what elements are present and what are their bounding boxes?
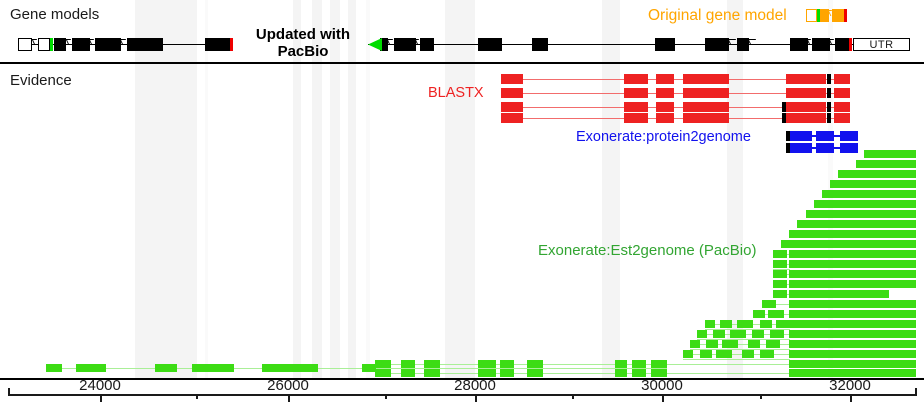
- blastx-hsp-block: [786, 113, 826, 123]
- est2genome-exon-block: [789, 360, 916, 368]
- start-codon-marker: [50, 38, 53, 51]
- protein2genome-label: Exonerate:protein2genome: [576, 129, 751, 145]
- blastx-hsp-block: [683, 74, 729, 84]
- est2genome-exon-block: [155, 364, 177, 372]
- utr-exon: [38, 38, 50, 51]
- blastx-hsp-block: [501, 88, 523, 98]
- est2genome-exon-block: [690, 340, 700, 348]
- est2genome-exon-block: [401, 360, 415, 368]
- est2genome-exon-block: [683, 350, 693, 358]
- blastx-hsp-block: [624, 74, 648, 84]
- est2genome-exon-block: [706, 340, 718, 348]
- protein2genome-exon-block: [840, 131, 858, 141]
- axis-tick: [196, 394, 198, 399]
- updated-with-pacbio-line2: PacBio: [248, 43, 358, 60]
- est2genome-exon-block: [742, 350, 754, 358]
- coordinate-axis: 2400026000280003000032000: [0, 380, 924, 406]
- est2genome-exon-block: [770, 330, 784, 338]
- blastx-hsp-block: [501, 102, 523, 112]
- protein2genome-exon-block: [790, 131, 812, 141]
- axis-tick-label: 32000: [829, 377, 871, 394]
- est2genome-label: Exonerate:Est2genome (PacBio): [538, 242, 756, 259]
- est2genome-exon-block: [776, 320, 790, 328]
- est2genome-exon-block: [838, 170, 916, 178]
- est2genome-exon-block: [720, 320, 732, 328]
- blastx-hsp-block: [683, 113, 729, 123]
- legend-utr-box: [806, 9, 817, 22]
- utr-box-label: UTR: [869, 39, 893, 51]
- est2genome-exon-block: [632, 369, 646, 377]
- est2genome-exon-block: [773, 250, 787, 258]
- protein2genome-exon-block: [816, 143, 834, 153]
- utr-box: UTR: [853, 38, 910, 51]
- est2genome-exon-block: [822, 190, 916, 198]
- axis-tick: [850, 394, 852, 402]
- est2genome-exon-block: [762, 300, 776, 308]
- cds-exon: [127, 38, 163, 51]
- est2genome-exon-block: [478, 369, 496, 377]
- est2genome-exon-block: [737, 320, 753, 328]
- strand-chevron-icon: [748, 39, 759, 45]
- shaded-band: [602, 0, 620, 380]
- axis-tick-label: 26000: [267, 377, 309, 394]
- axis-tick: [760, 394, 762, 399]
- est2genome-exon-block: [789, 270, 916, 278]
- est2genome-exon-block: [76, 364, 106, 372]
- protein2genome-exon-block: [816, 131, 834, 141]
- blastx-hsp-block: [656, 74, 674, 84]
- est2genome-exon-block: [730, 330, 746, 338]
- cds-exon: [835, 38, 849, 51]
- est2genome-exon-block: [773, 280, 787, 288]
- blastx-hsp-block: [786, 88, 826, 98]
- cds-exon: [95, 38, 121, 51]
- genome-browser-canvas: Gene models Evidence Updated with PacBio…: [0, 0, 924, 406]
- est2genome-exon-block: [362, 364, 376, 372]
- est2genome-exon-block: [262, 364, 318, 372]
- axis-tick: [288, 394, 290, 402]
- est2genome-exon-block: [527, 369, 543, 377]
- est2genome-exon-block: [806, 210, 916, 218]
- est2genome-exon-block: [478, 360, 496, 368]
- cds-exon: [72, 38, 90, 51]
- est2genome-exon-block: [46, 364, 62, 372]
- est2genome-exon-block: [760, 350, 774, 358]
- est2genome-exon-block: [789, 320, 916, 328]
- blastx-label: BLASTX: [428, 85, 484, 101]
- est2genome-exon-block: [789, 350, 916, 358]
- est2genome-exon-block: [864, 150, 916, 158]
- blastx-frame-marker: [827, 74, 831, 84]
- blastx-hsp-block: [683, 88, 729, 98]
- cds-exon: [54, 38, 66, 51]
- blastx-frame-marker: [827, 88, 831, 98]
- est2genome-exon-block: [700, 350, 712, 358]
- est2genome-exon-block: [651, 360, 667, 368]
- panel-title-evidence: Evidence: [10, 72, 72, 89]
- est2genome-exon-block: [697, 330, 707, 338]
- est2genome-exon-block: [856, 160, 916, 168]
- axis-tick: [662, 394, 664, 402]
- est2genome-exon-block: [375, 360, 391, 368]
- axis-tick: [385, 394, 387, 399]
- utr-exon: [18, 38, 32, 51]
- est2genome-exon-block: [789, 260, 916, 268]
- est2genome-exon-block: [781, 240, 916, 248]
- blastx-frame-marker: [827, 102, 831, 112]
- axis-tick-label: 24000: [79, 377, 121, 394]
- cds-exon: [532, 38, 548, 51]
- est2genome-exon-block: [748, 340, 760, 348]
- blastx-hsp-block: [624, 102, 648, 112]
- blastx-hsp-block: [624, 88, 648, 98]
- shaded-band: [205, 0, 208, 380]
- cds-exon: [420, 38, 434, 51]
- protein2genome-exon-block: [840, 143, 858, 153]
- stop-codon-marker: [230, 38, 233, 51]
- cds-exon: [655, 38, 675, 51]
- updated-with-pacbio-line1: Updated with: [248, 26, 358, 43]
- blastx-hsp-block: [834, 74, 850, 84]
- blastx-hsp-block: [656, 113, 674, 123]
- est2genome-exon-block: [500, 369, 514, 377]
- est2genome-exon-block: [615, 369, 627, 377]
- est2genome-exon-block: [705, 320, 715, 328]
- axis-tick: [100, 394, 102, 402]
- est2genome-exon-block: [789, 330, 916, 338]
- est2genome-exon-block: [789, 280, 916, 288]
- blastx-hsp-block: [656, 88, 674, 98]
- legend-stop-marker: [844, 9, 847, 22]
- est2genome-exon-block: [424, 369, 440, 377]
- est2genome-exon-block: [789, 340, 916, 348]
- cds-exon: [812, 38, 830, 51]
- est2genome-exon-block: [768, 310, 784, 318]
- est2genome-exon-block: [632, 360, 646, 368]
- blastx-hsp-block: [834, 102, 850, 112]
- blastx-hsp-block: [501, 74, 523, 84]
- est2genome-exon-block: [615, 360, 627, 368]
- cds-exon: [705, 38, 729, 51]
- est2genome-exon-block: [752, 330, 764, 338]
- est2genome-exon-block: [789, 300, 916, 308]
- blastx-hsp-block: [786, 74, 826, 84]
- axis-right-endcap: [915, 388, 917, 396]
- est2genome-exon-block: [722, 340, 738, 348]
- shaded-band: [366, 0, 370, 380]
- est2genome-exon-block: [789, 310, 916, 318]
- est2genome-exon-block: [375, 369, 391, 377]
- axis-tick-label: 28000: [454, 377, 496, 394]
- panel-title-gene-models: Gene models: [10, 6, 99, 23]
- est2genome-exon-block: [789, 369, 916, 377]
- est2genome-exon-block: [789, 290, 889, 298]
- est2genome-exon-block: [753, 310, 765, 318]
- est2genome-intron-line: [683, 359, 790, 360]
- axis-tick: [475, 394, 477, 402]
- est2genome-exon-block: [766, 340, 780, 348]
- est2genome-exon-block: [527, 360, 543, 368]
- blastx-hsp-block: [624, 113, 648, 123]
- est2genome-exon-block: [401, 369, 415, 377]
- est2genome-exon-block: [713, 330, 725, 338]
- updated-with-pacbio-annotation: Updated with PacBio: [248, 26, 358, 60]
- est2genome-exon-block: [830, 180, 916, 188]
- blastx-hsp-block: [656, 102, 674, 112]
- est2genome-exon-block: [424, 360, 440, 368]
- blastx-frame-marker: [827, 113, 831, 123]
- blastx-hsp-block: [501, 113, 523, 123]
- shaded-band: [135, 0, 197, 380]
- est2genome-exon-block: [651, 369, 667, 377]
- panel-divider-gene-models: [0, 62, 924, 64]
- axis-left-endcap: [8, 388, 10, 396]
- strand-arrow-icon: [368, 38, 382, 51]
- est2genome-exon-block: [773, 260, 787, 268]
- original-gene-model-label: Original gene model: [648, 7, 787, 25]
- protein2genome-exon-block: [790, 143, 812, 153]
- cds-exon: [394, 38, 416, 51]
- blastx-hsp-block: [786, 102, 826, 112]
- cds-exon: [790, 38, 808, 51]
- blastx-hsp-block: [683, 102, 729, 112]
- est2genome-exon-block: [500, 360, 514, 368]
- blastx-hsp-block: [834, 88, 850, 98]
- est2genome-exon-block: [192, 364, 234, 372]
- stop-codon-marker: [849, 38, 852, 51]
- est2genome-exon-block: [789, 230, 916, 238]
- axis-baseline: [8, 394, 916, 396]
- blastx-hsp-block: [834, 113, 850, 123]
- est2genome-exon-block: [789, 250, 916, 258]
- est2genome-exon-block: [797, 220, 916, 228]
- axis-tick: [572, 394, 574, 399]
- est2genome-exon-block: [716, 350, 732, 358]
- axis-tick-label: 30000: [641, 377, 683, 394]
- shaded-band: [445, 0, 475, 380]
- est2genome-exon-block: [773, 290, 787, 298]
- est2genome-exon-block: [773, 270, 787, 278]
- est2genome-exon-block: [760, 320, 772, 328]
- cds-exon: [205, 38, 230, 51]
- est2genome-exon-block: [814, 200, 916, 208]
- cds-exon: [478, 38, 502, 51]
